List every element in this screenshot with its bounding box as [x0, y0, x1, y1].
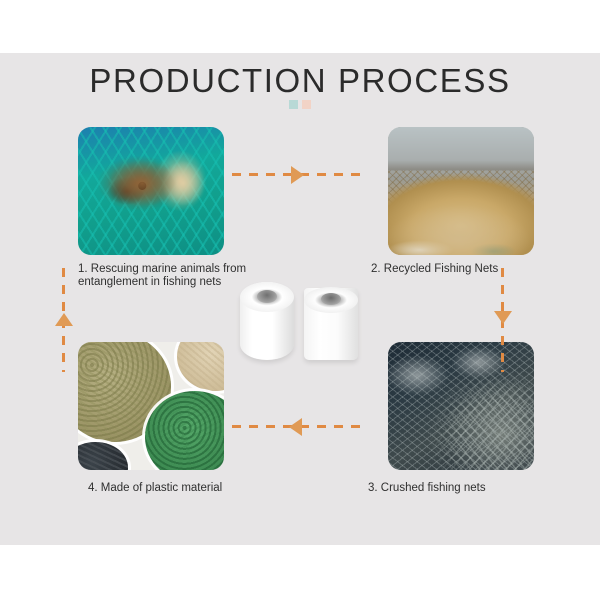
step-1-image — [78, 127, 224, 255]
arrow-step4-to-step1 — [62, 268, 65, 372]
arrow-step2-to-step3 — [501, 268, 504, 372]
step-2-caption: 2. Recycled Fishing Nets — [371, 263, 551, 276]
step-4-image — [78, 342, 224, 470]
crushed-fishing-nets-photo — [388, 342, 534, 470]
plastic-pellets-photo — [78, 342, 224, 470]
page-title: PRODUCTION PROCESS — [0, 62, 600, 100]
step-1-caption: 1. Rescuing marine animals from entangle… — [78, 263, 268, 289]
step-3-image — [388, 342, 534, 470]
arrow-right-head-icon — [291, 166, 304, 184]
teal-square-icon — [289, 100, 298, 109]
production-process-infographic: PRODUCTION PROCESS 1. Rescuing marine an… — [0, 0, 600, 600]
title-decoration — [0, 100, 600, 109]
cream-pellets-dish — [177, 342, 224, 391]
arrow-step1-to-step2 — [232, 173, 364, 176]
round-roll-icon — [240, 282, 294, 360]
arrow-down-head-icon — [494, 311, 512, 324]
square-roll-icon — [304, 288, 358, 360]
arrow-up-head-icon — [55, 313, 73, 326]
step-4-caption: 4. Made of plastic material — [88, 482, 278, 495]
arrow-step3-to-step4 — [232, 425, 364, 428]
recycled-fishing-nets-photo — [388, 127, 534, 255]
arrow-left-head-icon — [289, 418, 302, 436]
step-3-caption: 3. Crushed fishing nets — [368, 482, 548, 495]
peach-square-icon — [302, 100, 311, 109]
black-pellets-dish — [78, 442, 128, 470]
step-2-image — [388, 127, 534, 255]
sea-turtle-in-net-photo — [78, 127, 224, 255]
